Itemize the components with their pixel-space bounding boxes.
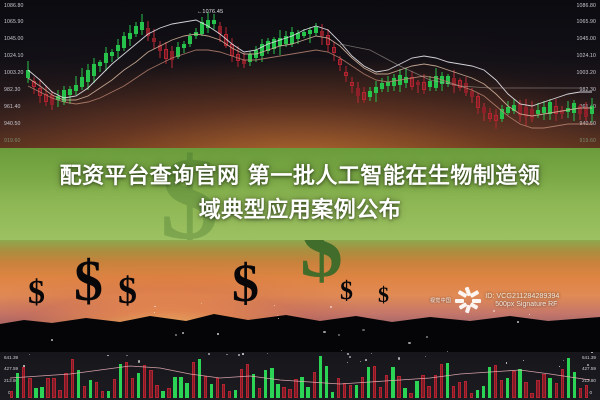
sparkle-dot <box>274 305 275 306</box>
moving-average-lines <box>0 0 600 148</box>
sparkle-dot <box>182 332 184 334</box>
sparkle-dot <box>51 339 53 341</box>
screenshot-root: 1086.80 1065.90 1045.00 1024.10 1003.20 … <box>0 0 600 400</box>
sparkle-dot <box>349 356 351 358</box>
price-peak-annotation: ←1076.45 <box>197 9 223 15</box>
sparkle-dot <box>330 306 332 308</box>
sparkle-dot <box>226 354 228 356</box>
ma-line-fast <box>28 20 592 106</box>
visual-china-logo-icon <box>455 287 481 313</box>
sparkle-dot <box>208 353 210 355</box>
watermark-text: ID: VCG211284289394 500px Signature RF <box>485 291 559 309</box>
dollar-sign-icon-large-green: $ <box>160 240 219 250</box>
dollar-sign-icon-green-right: $ <box>300 240 343 290</box>
ma-line-extra <box>340 44 580 88</box>
annotation-value: 1076.45 <box>202 9 223 15</box>
price-candlestick-chart: 1086.80 1065.90 1045.00 1024.10 1003.20 … <box>0 0 600 148</box>
sparkle-dot <box>323 331 325 333</box>
sparkle-dot <box>360 361 361 362</box>
sparkle-dot <box>138 360 140 362</box>
watermark-license: 500px Signature RF <box>485 300 559 309</box>
volume-ma-line <box>0 352 600 400</box>
ma-line-mid <box>28 34 592 116</box>
annotation-arrow-icon: ← <box>197 9 201 15</box>
sparkle-dot <box>365 359 367 361</box>
sparkle-dot <box>517 321 519 323</box>
volume-bar-chart: 641.39 427.59 213.80 0 641.39 427.59 213… <box>0 352 600 400</box>
sparkle-dot <box>23 365 25 367</box>
watermark: 视觉中国 ID: VCG211284289394 500px Signature… <box>430 278 600 322</box>
green-overlay-band: $ <box>0 148 600 240</box>
ma-line-slow <box>28 50 592 128</box>
sparkle-dot <box>559 366 560 367</box>
sparkle-dot <box>362 329 364 331</box>
sparkle-dot <box>201 303 202 304</box>
watermark-brand-label: 视觉中国 <box>430 297 451 304</box>
watermark-id: ID: VCG211284289394 <box>485 291 559 300</box>
